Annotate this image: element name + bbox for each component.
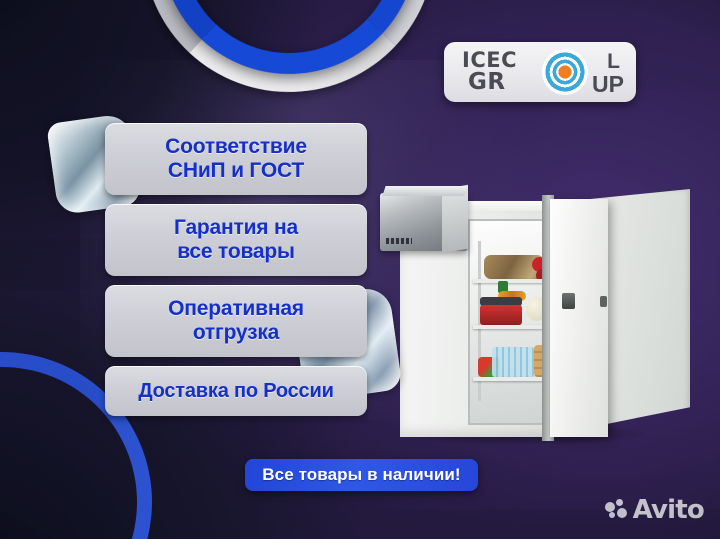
background-vignette: [0, 0, 720, 539]
advertisement-banner: ICEC GR L UP Соответствие СНиП и ГОСТ Га…: [0, 0, 720, 539]
